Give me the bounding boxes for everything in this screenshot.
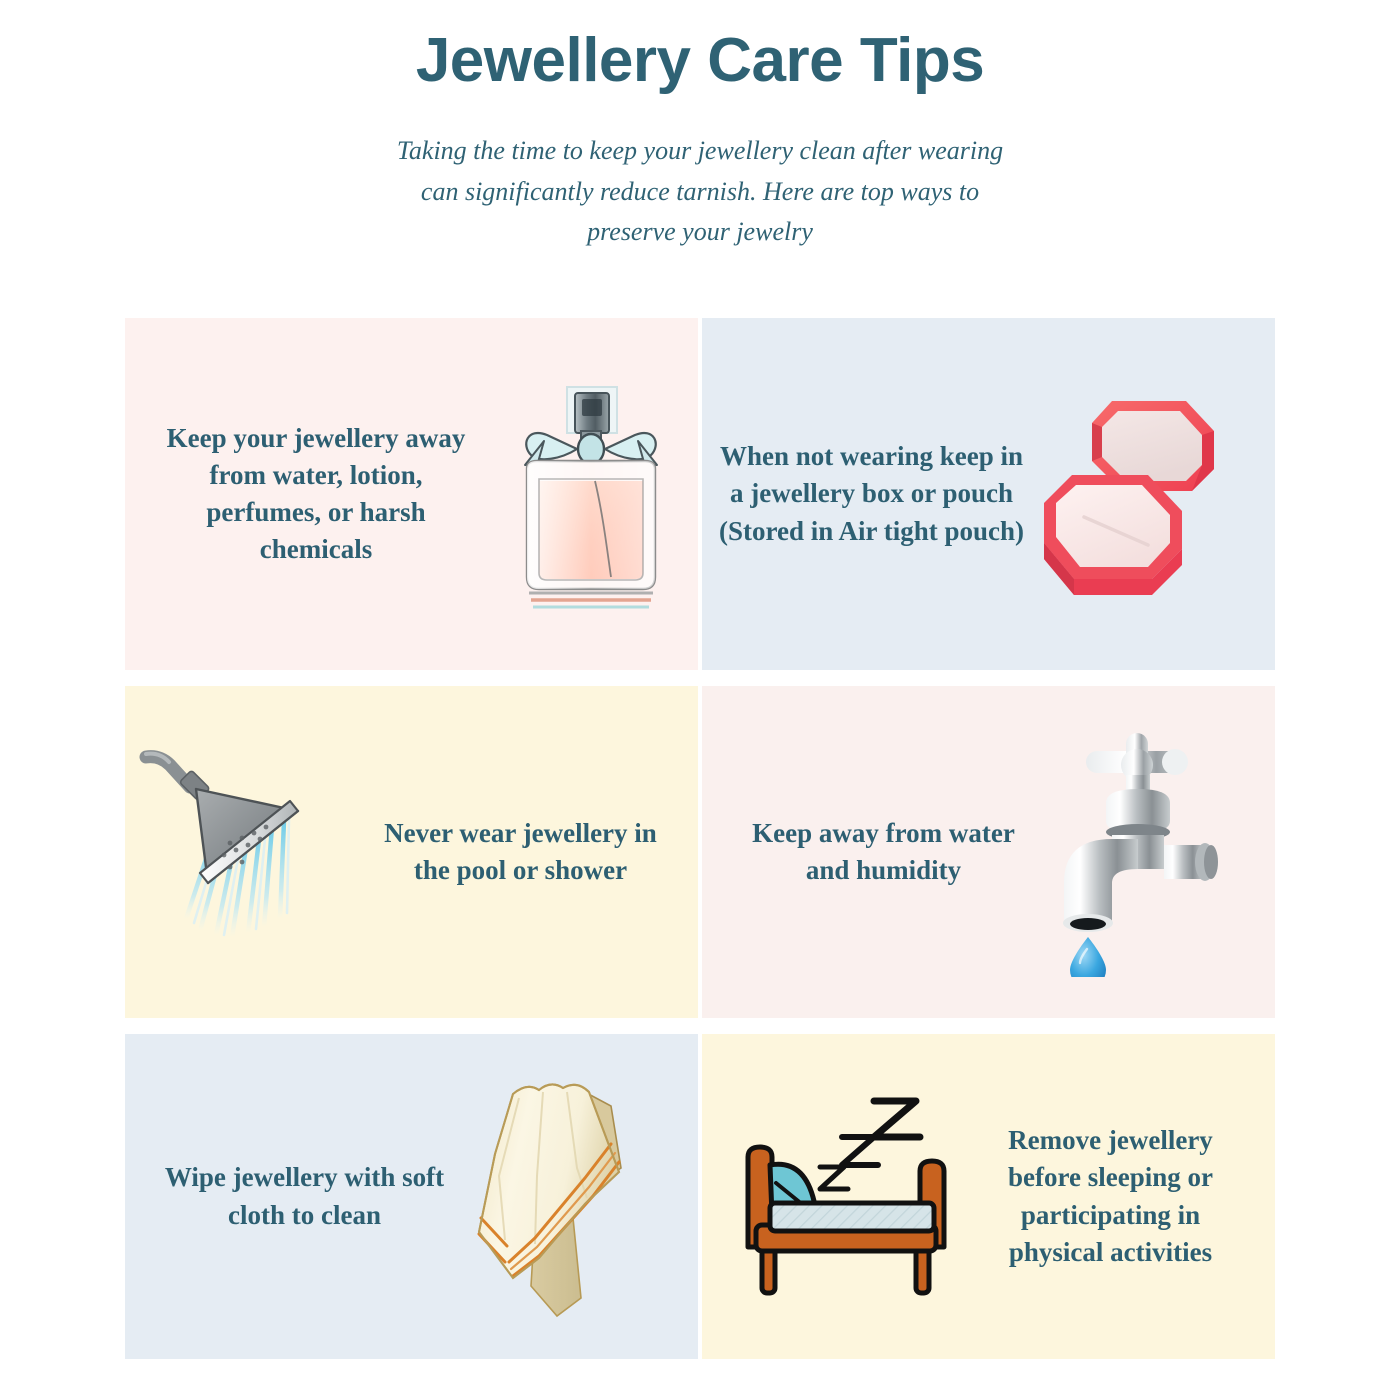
tip-card-1-label: Keep your jewellery away from water, lot… bbox=[125, 420, 483, 569]
tip-card-6: Remove jewellery before sleeping or part… bbox=[702, 1034, 1275, 1359]
ring-box-icon bbox=[1025, 387, 1275, 602]
perfume-bottle-icon bbox=[483, 369, 698, 619]
tip-card-2: When not wearing keep in a jewellery box… bbox=[702, 318, 1275, 670]
tip-card-1: Keep your jewellery away from water, lot… bbox=[125, 318, 698, 670]
shower-head-icon bbox=[125, 737, 365, 967]
faucet-icon bbox=[1025, 727, 1275, 977]
header: Jewellery Care Tips Taking the time to k… bbox=[0, 0, 1400, 252]
cloth-icon bbox=[448, 1072, 698, 1322]
tip-card-5: Wipe jewellery with soft cloth to clean bbox=[125, 1034, 698, 1359]
infographic-page: Jewellery Care Tips Taking the time to k… bbox=[0, 0, 1400, 1400]
page-subtitle: Taking the time to keep your jewellery c… bbox=[380, 131, 1020, 252]
tip-card-3-label: Never wear jewellery in the pool or show… bbox=[365, 815, 698, 890]
page-title: Jewellery Care Tips bbox=[0, 26, 1400, 95]
tip-card-3: Never wear jewellery in the pool or show… bbox=[125, 686, 698, 1018]
tip-card-6-label: Remove jewellery before sleeping or part… bbox=[972, 1122, 1275, 1271]
tips-grid: Keep your jewellery away from water, lot… bbox=[125, 318, 1275, 1359]
tip-card-2-label: When not wearing keep in a jewellery box… bbox=[702, 438, 1025, 550]
tip-card-4-label: Keep away from water and humidity bbox=[702, 815, 1025, 890]
bed-zzz-icon bbox=[702, 1089, 972, 1304]
tip-card-5-label: Wipe jewellery with soft cloth to clean bbox=[125, 1159, 448, 1234]
tip-card-4: Keep away from water and humidity bbox=[702, 686, 1275, 1018]
